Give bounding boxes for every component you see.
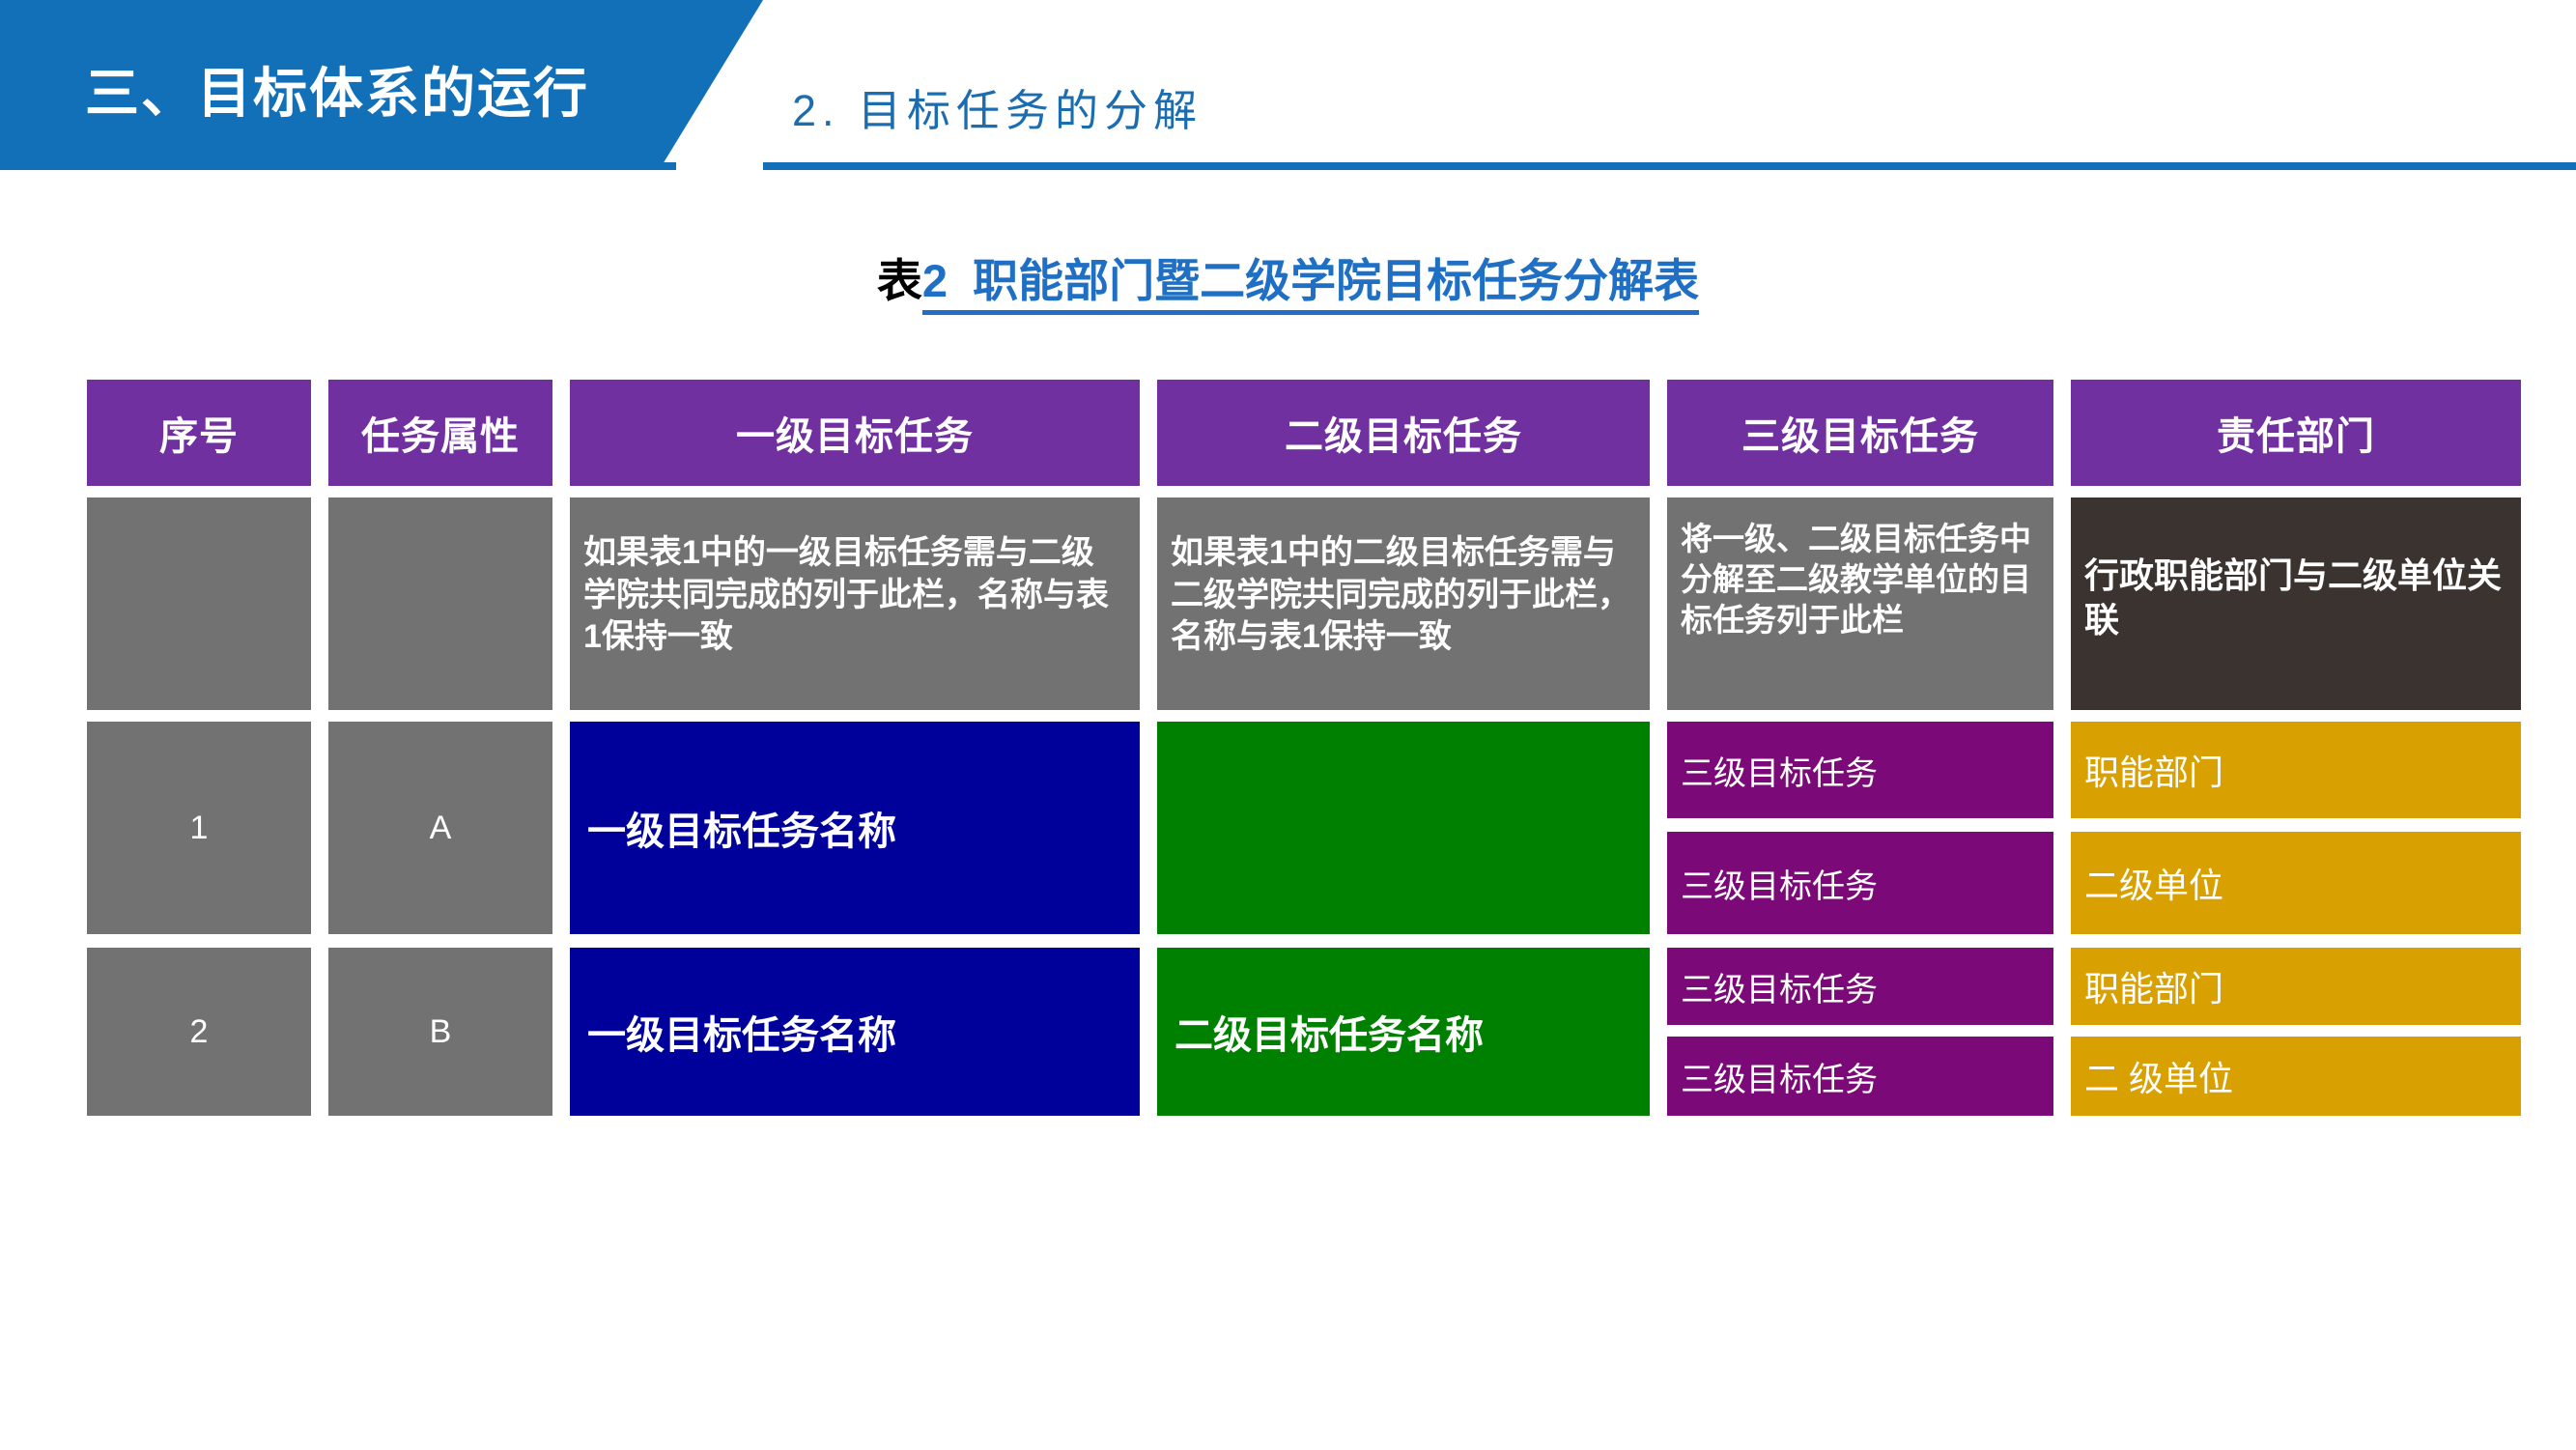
- header-rule-left: [0, 162, 676, 170]
- table-caption-main: 职能部门暨二级学院目标任务分解表: [948, 255, 1699, 315]
- column-header-seq: 序号: [87, 380, 311, 486]
- desc-cell-level2: 如果表1中的二级目标任务需与二级学院共同完成的列于此栏，名称与表1保持一致: [1157, 498, 1650, 710]
- column-header-attr: 任务属性: [328, 380, 552, 486]
- header-underline-rule: [763, 162, 2576, 170]
- table-row: 三级目标任务: [1667, 1037, 2053, 1116]
- table-row: 三级目标任务: [1667, 948, 2053, 1025]
- table-row: 职能部门: [2071, 722, 2521, 818]
- desc-cell-level1: 如果表1中的一级目标任务需与二级学院共同完成的列于此栏，名称与表1保持一致: [570, 498, 1140, 710]
- table-caption-main-text: 职能部门暨二级学院目标任务分解表: [973, 255, 1699, 306]
- slide-header: 三、目标体系的运行 2. 目标任务的分解: [0, 0, 2576, 169]
- desc-cell-attr: [328, 498, 552, 710]
- column-header-level1: 一级目标任务: [570, 380, 1140, 486]
- column-header-level2: 二级目标任务: [1157, 380, 1650, 486]
- table-caption-prefix: 表: [877, 255, 922, 306]
- table-caption-number: 2: [922, 255, 948, 315]
- table-row: 2: [87, 948, 311, 1116]
- table-row: 一级目标任务名称: [570, 948, 1140, 1116]
- table-row: 二级目标任务名称: [1157, 948, 1650, 1116]
- table-caption: 表2 职能部门暨二级学院目标任务分解表: [0, 243, 2576, 310]
- table-row: 三级目标任务: [1667, 832, 2053, 934]
- table-row: 1: [87, 722, 311, 934]
- table-row: 三级目标任务: [1667, 722, 2053, 818]
- table-row: [1157, 722, 1650, 934]
- desc-cell-dept: 行政职能部门与二级单位关联: [2071, 498, 2521, 710]
- subsection-title: 2. 目标任务的分解: [792, 75, 1203, 138]
- column-header-dept: 责任部门: [2071, 380, 2521, 486]
- table-row: 职能部门: [2071, 948, 2521, 1025]
- desc-cell-level3: 将一级、二级目标任务中分解至二级教学单位的目标任务列于此栏: [1667, 498, 2053, 710]
- section-title: 三、目标体系的运行: [85, 50, 589, 128]
- table-row: 二级单位: [2071, 832, 2521, 934]
- table-row: 二 级单位: [2071, 1037, 2521, 1116]
- desc-cell-seq: [87, 498, 311, 710]
- column-header-level3: 三级目标任务: [1667, 380, 2053, 486]
- table-row: B: [328, 948, 552, 1116]
- table-row: A: [328, 722, 552, 934]
- table-row: 一级目标任务名称: [570, 722, 1140, 934]
